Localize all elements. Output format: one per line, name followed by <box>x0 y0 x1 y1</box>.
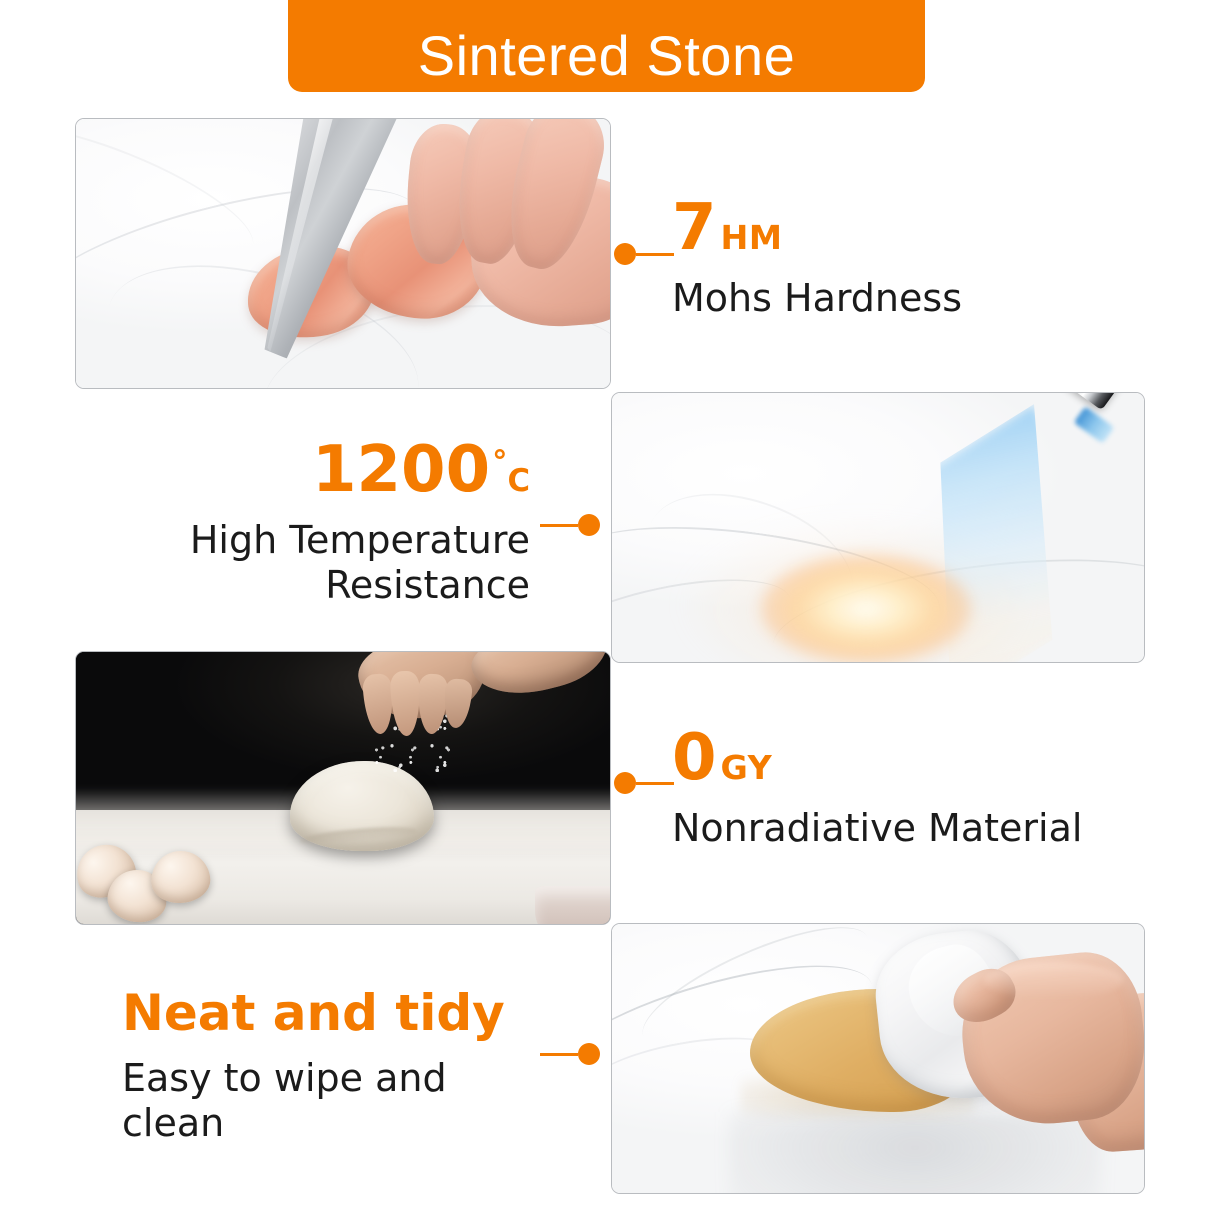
connector-dot-icon <box>578 1043 600 1065</box>
degree-symbol-icon: ° <box>492 444 507 480</box>
photo-dough-kneading <box>75 651 611 925</box>
page-title: Sintered Stone <box>418 27 795 86</box>
photo-blowtorch-on-stone <box>611 392 1145 663</box>
photo-blowtorch-on-stone-content <box>612 393 1144 662</box>
stat-unit: HM <box>721 218 783 257</box>
connector-line <box>540 524 578 527</box>
stat-label-mohs: Mohs Hardness <box>672 276 962 321</box>
connector-dot-icon <box>614 772 636 794</box>
stat-value-clean: Neat and tidy <box>122 988 534 1038</box>
stat-number: 0 <box>672 721 717 795</box>
hand-knuckles <box>984 962 1122 1000</box>
stat-label-clean: Easy to wipe and clean <box>122 1056 534 1146</box>
header-banner: Sintered Stone <box>288 0 925 92</box>
stat-value-radiation: 0GY <box>672 726 1082 790</box>
connector-nonradiative <box>614 772 674 794</box>
stat-value-temperature: 1200°C <box>160 438 530 502</box>
stat-label-temperature: High Temperature Resistance <box>160 518 530 608</box>
stat-unit: GY <box>721 748 773 787</box>
stat-unit: C <box>507 463 530 499</box>
connector-easy-clean <box>540 1043 600 1065</box>
connector-line <box>636 253 674 256</box>
connector-line <box>540 1053 578 1056</box>
stat-mohs-hardness: 7HM Mohs Hardness <box>672 196 962 321</box>
stat-high-temperature: 1200°C High Temperature Resistance <box>160 438 530 608</box>
photo-wiping-spill-content <box>612 924 1144 1193</box>
connector-high-temperature <box>540 514 600 536</box>
stat-value-mohs: 7HM <box>672 196 962 260</box>
stat-easy-clean: Neat and tidy Easy to wipe and clean <box>122 988 534 1146</box>
stat-number: 1200 <box>312 433 490 507</box>
photo-knife-cutting-salmon-content <box>76 119 610 388</box>
photo-dough-kneading-content <box>76 652 610 924</box>
connector-line <box>636 782 674 785</box>
counter-shadow <box>729 1112 1101 1193</box>
flame-hotspot <box>761 554 971 662</box>
connector-dot-icon <box>578 514 600 536</box>
photo-knife-cutting-salmon <box>75 118 611 389</box>
connector-dot-icon <box>614 243 636 265</box>
stat-nonradiative: 0GY Nonradiative Material <box>672 726 1082 851</box>
mixing-bowl <box>535 886 610 924</box>
connector-mohs-hardness <box>614 243 674 265</box>
stat-number: 7 <box>672 191 717 265</box>
stat-label-radiation: Nonradiative Material <box>672 806 1082 851</box>
photo-wiping-spill <box>611 923 1145 1194</box>
